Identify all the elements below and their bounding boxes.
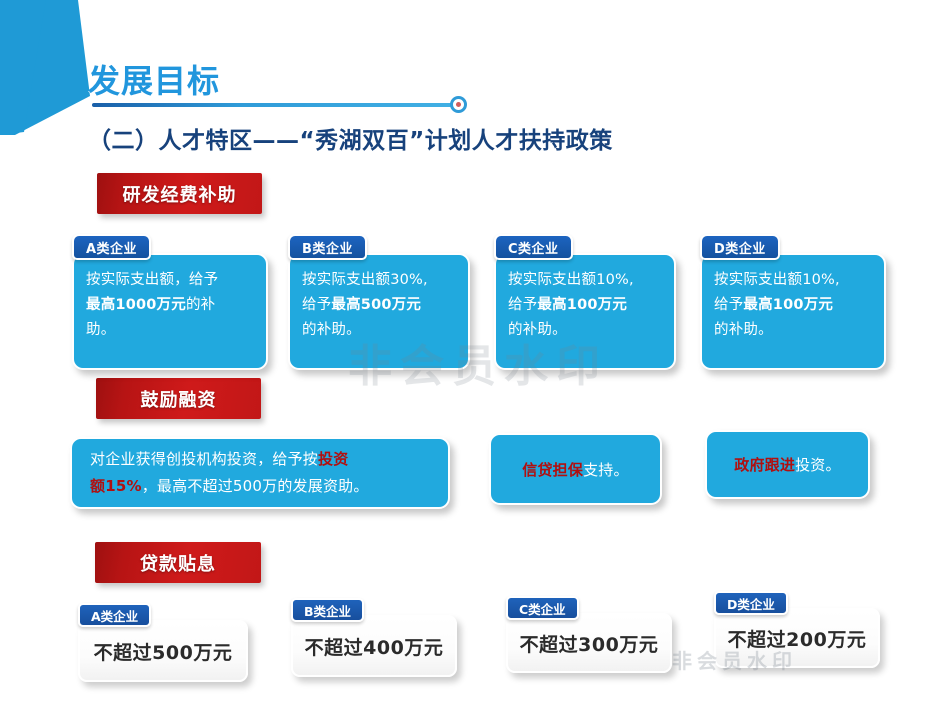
card-body: 不超过500万元 <box>78 620 248 682</box>
card-tab-label: B类企业 <box>288 234 367 260</box>
card-body: 不超过400万元 <box>291 615 457 677</box>
card-body: 按实际支出额，给予 最高1000万元的补 助。 <box>72 253 268 370</box>
section-banner-loan-interest-subsidy: 贷款贴息 <box>95 542 261 583</box>
page-title: 发展目标 <box>88 56 220 102</box>
card-text: 对企业获得创投机构投资，给予按投资 额15%，最高不超过500万的发展资助。 <box>90 446 369 500</box>
card-text: 按实际支出额30%, 给予最高500万元 的补助。 <box>302 268 456 343</box>
card-tab-label: A类企业 <box>72 234 151 260</box>
card-text: 按实际支出额10%, 给予最高100万元 的补助。 <box>508 268 662 343</box>
card-financing-government-followon[interactable]: 政府跟进投资。 <box>705 430 870 499</box>
card-tab-label: B类企业 <box>291 598 364 622</box>
card-text: 政府跟进投资。 <box>734 454 840 475</box>
section-banner-financing: 鼓励融资 <box>96 378 261 419</box>
card-text: 按实际支出额10%, 给予最高100万元 的补助。 <box>714 268 872 343</box>
card-tab-label: D类企业 <box>714 591 788 615</box>
card-text: 信贷担保支持。 <box>522 459 628 480</box>
title-rule-end-dot-icon <box>450 96 467 113</box>
card-body: 不超过300万元 <box>506 613 672 673</box>
card-tab-label: A类企业 <box>78 603 151 627</box>
card-tab-label: D类企业 <box>700 234 780 260</box>
card-financing-investment[interactable]: 对企业获得创投机构投资，给予按投资 额15%，最高不超过500万的发展资助。 <box>70 437 450 509</box>
slide-canvas: 发展目标 （二）人才特区——“秀湖双百”计划人才扶持政策 研发经费补助 A类企业… <box>0 0 950 712</box>
card-body: 按实际支出额10%, 给予最高100万元 的补助。 <box>494 253 676 370</box>
card-body: 不超过200万元 <box>714 608 880 668</box>
card-body: 按实际支出额10%, 给予最高100万元 的补助。 <box>700 253 886 370</box>
card-tab-label: C类企业 <box>506 596 579 620</box>
card-tab-label: C类企业 <box>494 234 573 260</box>
title-underline-rule <box>92 103 458 107</box>
card-text: 按实际支出额，给予 最高1000万元的补 助。 <box>86 268 254 343</box>
section-banner-rd-subsidy: 研发经费补助 <box>97 173 262 214</box>
card-body: 按实际支出额30%, 给予最高500万元 的补助。 <box>288 253 470 370</box>
card-financing-credit-guarantee[interactable]: 信贷担保支持。 <box>489 433 662 505</box>
page-subtitle: （二）人才特区——“秀湖双百”计划人才扶持政策 <box>88 121 613 155</box>
